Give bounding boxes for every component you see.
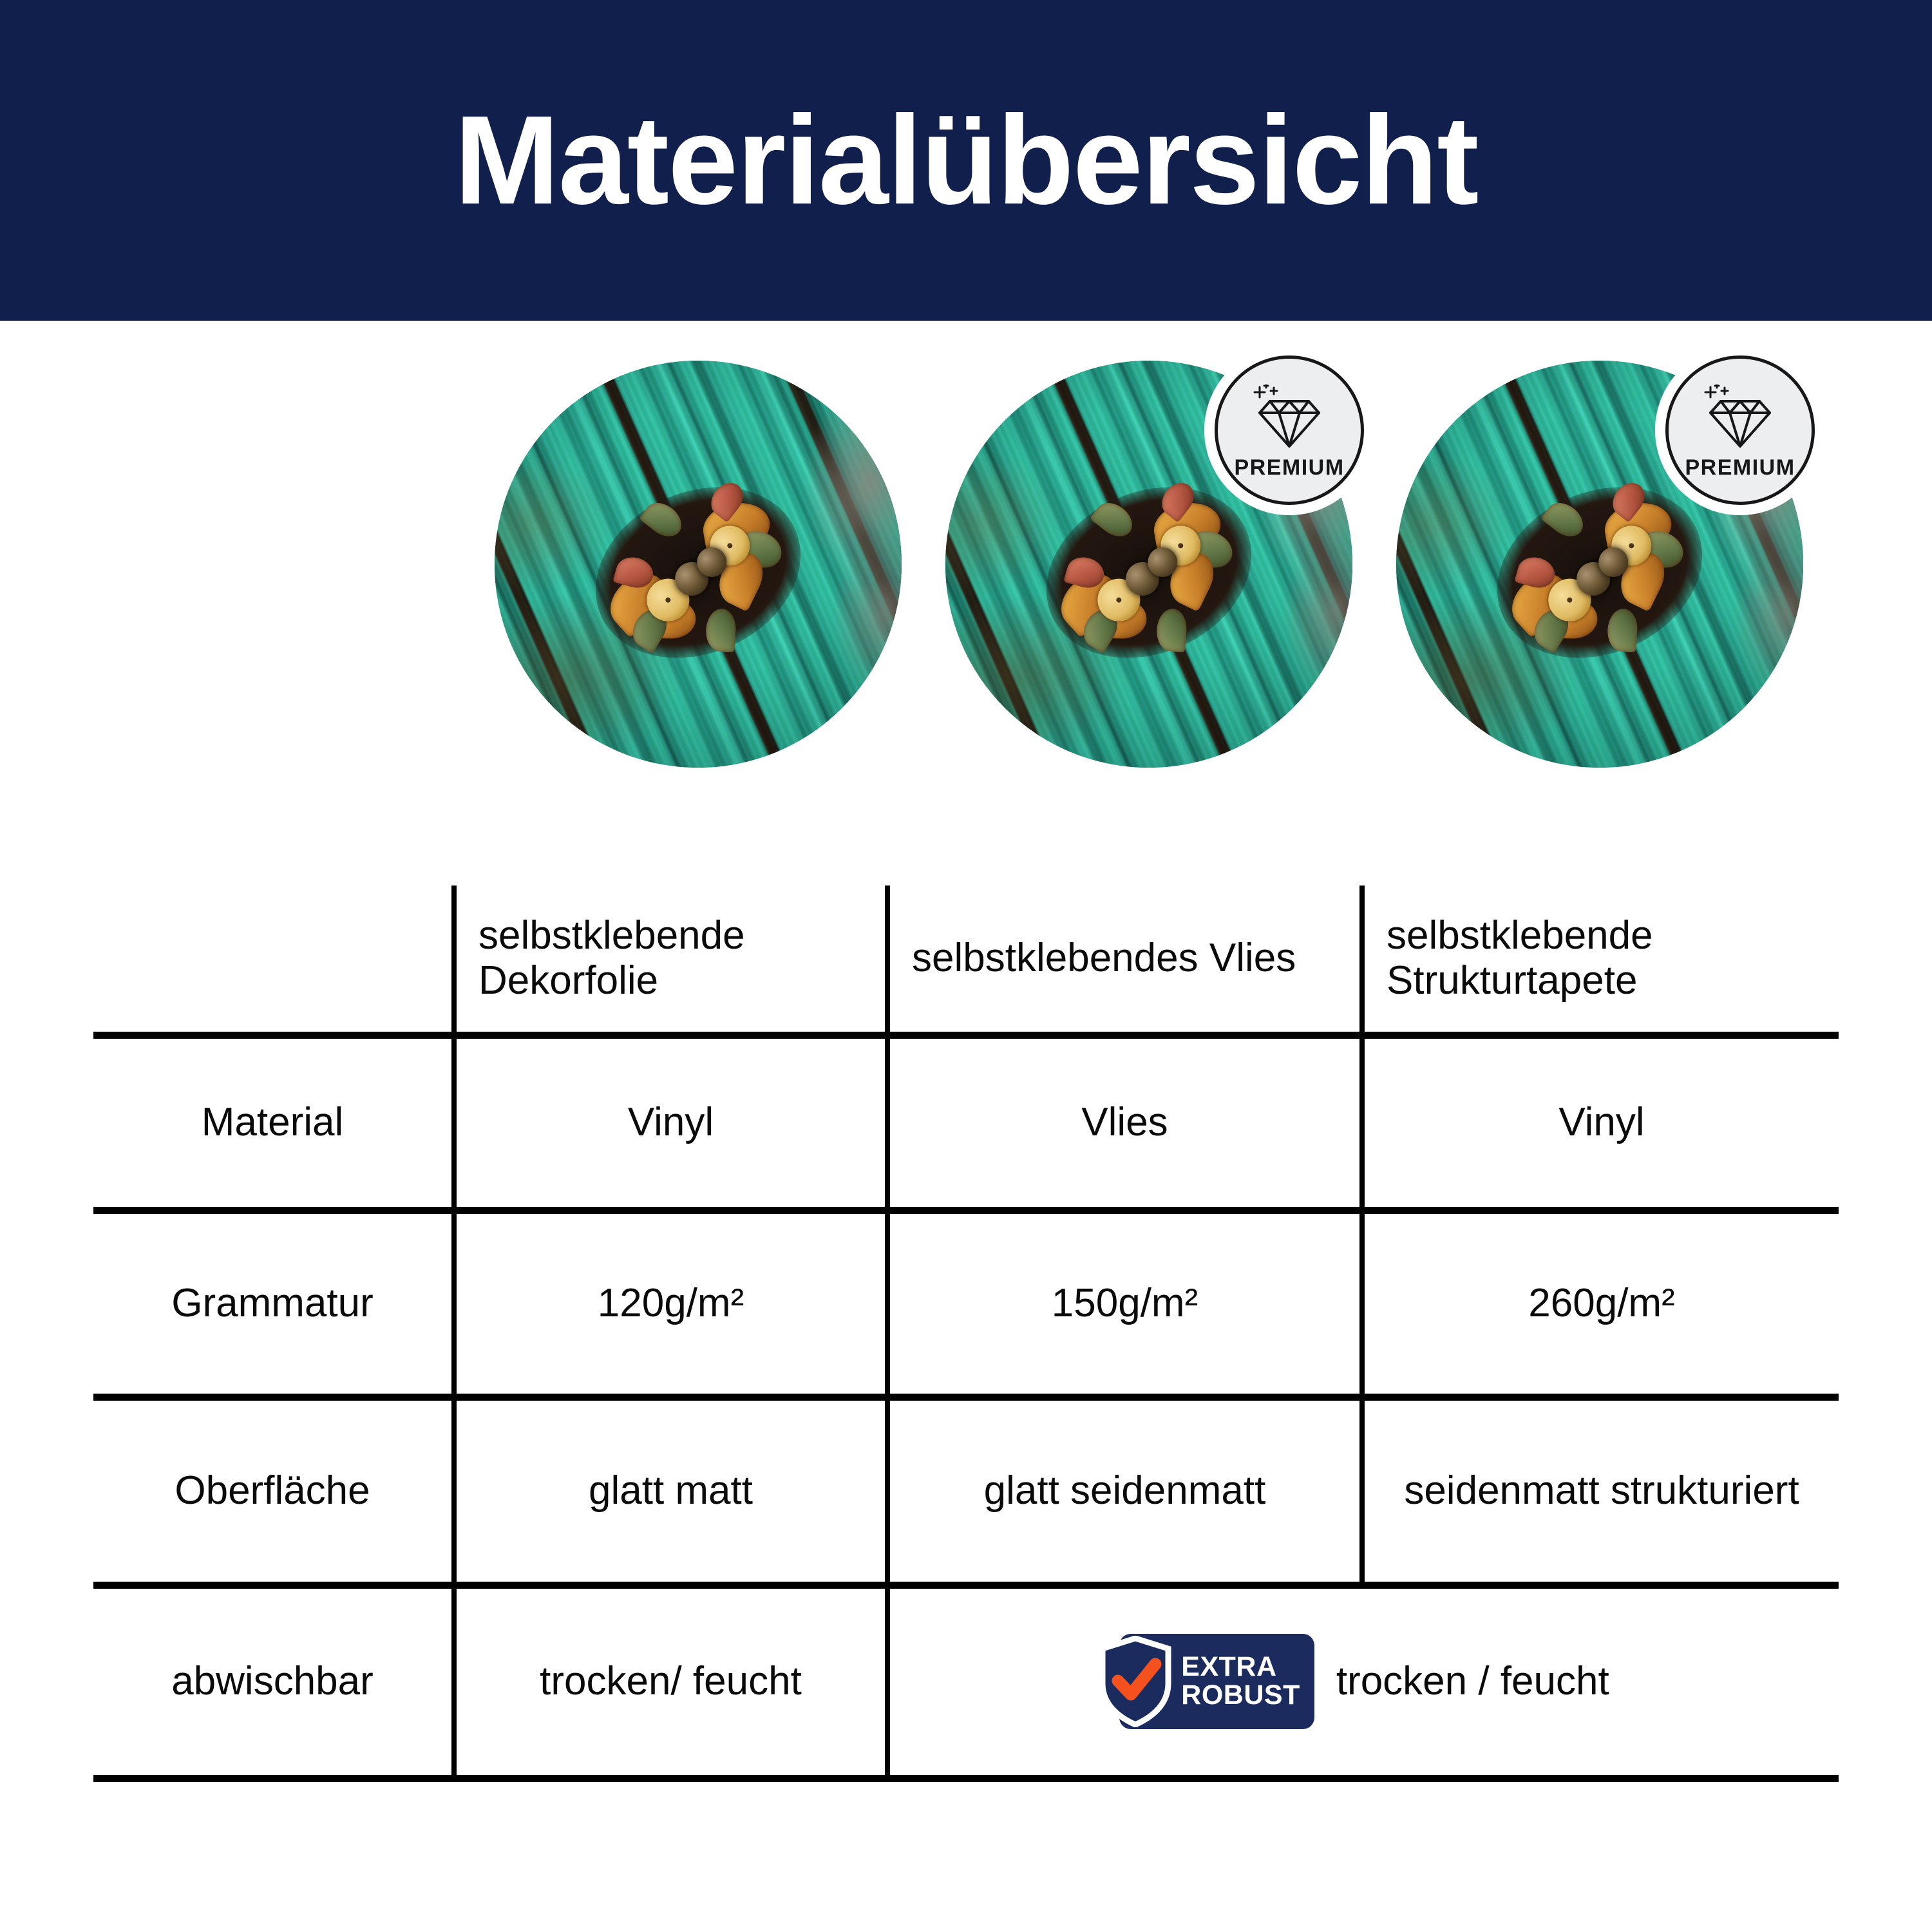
cell-grammatur-vlies: 150g/m²: [887, 1210, 1362, 1397]
column-header-strukturtapete: selbstklebende Strukturtapete: [1362, 885, 1839, 1035]
table-row-oberflaeche: Oberfläche glatt matt glatt seidenmatt s…: [93, 1397, 1839, 1585]
diamond-icon: [1251, 384, 1328, 451]
page-header: Materialübersicht: [0, 0, 1932, 321]
column-header-dekorfolie: selbstklebende Dekorfolie: [454, 885, 887, 1035]
premium-label: PREMIUM: [1685, 455, 1795, 480]
material-overview-page: Materialübersicht: [0, 0, 1932, 1932]
cell-grammatur-strukturtapete: 260g/m²: [1362, 1210, 1839, 1397]
premium-label: PREMIUM: [1234, 455, 1344, 480]
extra-robust-badge: EXTRA ROBUST: [1119, 1634, 1314, 1729]
cell-oberflaeche-dekorfolie: glatt matt: [454, 1397, 887, 1585]
table-header-row: selbstklebende Dekorfolie selbstklebende…: [93, 885, 1839, 1035]
table-row-abwischbar: abwischbar trocken/ feucht EXTRA: [93, 1585, 1839, 1778]
column-header-vlies: selbstklebendes Vlies: [887, 885, 1362, 1035]
row-label-material: Material: [93, 1035, 454, 1210]
shield-check-icon: [1097, 1636, 1173, 1727]
cell-oberflaeche-strukturtapete: seidenmatt strukturiert: [1362, 1397, 1839, 1585]
preview-circles: PREMIUM: [0, 361, 1932, 773]
table-row-material: Material Vinyl Vlies Vinyl: [93, 1035, 1839, 1210]
extra-robust-line2: ROBUST: [1181, 1681, 1300, 1710]
material-spec-table: selbstklebende Dekorfolie selbstklebende…: [93, 885, 1839, 1782]
cell-oberflaeche-vlies: glatt seidenmatt: [887, 1397, 1362, 1585]
cell-material-vlies: Vlies: [887, 1035, 1362, 1210]
row-label-abwischbar: abwischbar: [93, 1585, 454, 1778]
preview-circle-dekorfolie: [495, 361, 902, 768]
row-label-oberflaeche: Oberfläche: [93, 1397, 454, 1585]
cell-abwischbar-merged-value: trocken / feucht: [1336, 1659, 1609, 1705]
table-row-grammatur: Grammatur 120g/m² 150g/m² 260g/m²: [93, 1210, 1839, 1397]
cell-material-dekorfolie: Vinyl: [454, 1035, 887, 1210]
preview-circle-strukturtapete: PREMIUM: [1396, 361, 1803, 768]
cell-material-strukturtapete: Vinyl: [1362, 1035, 1839, 1210]
cell-grammatur-dekorfolie: 120g/m²: [454, 1210, 887, 1397]
product-image-dekorfolie: [495, 361, 902, 768]
cell-abwischbar-merged: EXTRA ROBUST trocken / feucht: [887, 1585, 1839, 1778]
material-spec-table-wrapper: selbstklebende Dekorfolie selbstklebende…: [93, 885, 1839, 1782]
diamond-icon: [1701, 384, 1779, 451]
row-label-grammatur: Grammatur: [93, 1210, 454, 1397]
image-vignette: [495, 361, 902, 768]
premium-badge: PREMIUM: [1215, 355, 1364, 505]
premium-badge: PREMIUM: [1665, 355, 1815, 505]
page-title: Materialübersicht: [455, 97, 1478, 223]
cell-abwischbar-dekorfolie: trocken/ feucht: [454, 1585, 887, 1778]
extra-robust-line1: EXTRA: [1181, 1653, 1300, 1681]
header-empty-cell: [93, 885, 454, 1035]
preview-circle-vlies: PREMIUM: [945, 361, 1352, 768]
extra-robust-text: EXTRA ROBUST: [1181, 1653, 1300, 1710]
